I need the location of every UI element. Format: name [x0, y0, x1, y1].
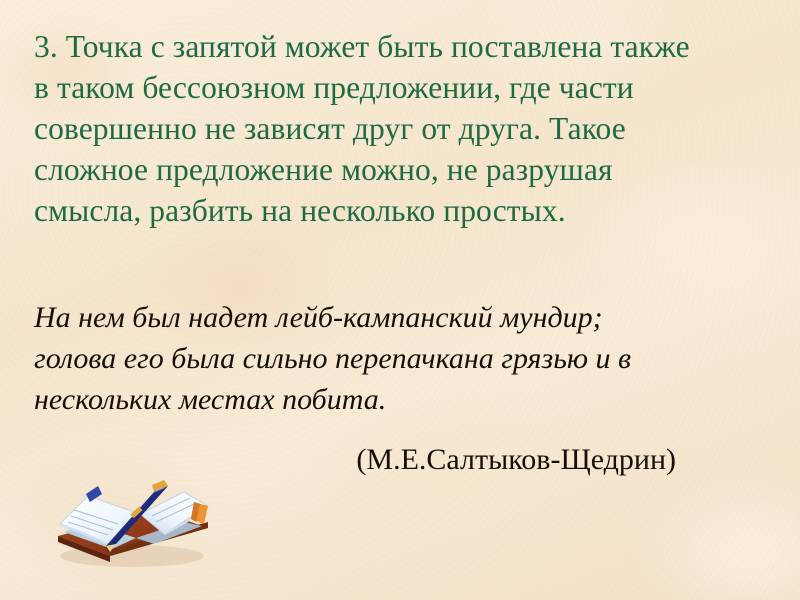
slide-canvas: 3. Точка с запятой может быть поставлена… — [0, 0, 800, 600]
grammar-rule-paragraph: 3. Точка с запятой может быть поставлена… — [34, 26, 768, 231]
open-book-icon — [44, 452, 216, 568]
literary-quote-text: На нем был надет лейб-кампанский мундир;… — [34, 297, 734, 420]
